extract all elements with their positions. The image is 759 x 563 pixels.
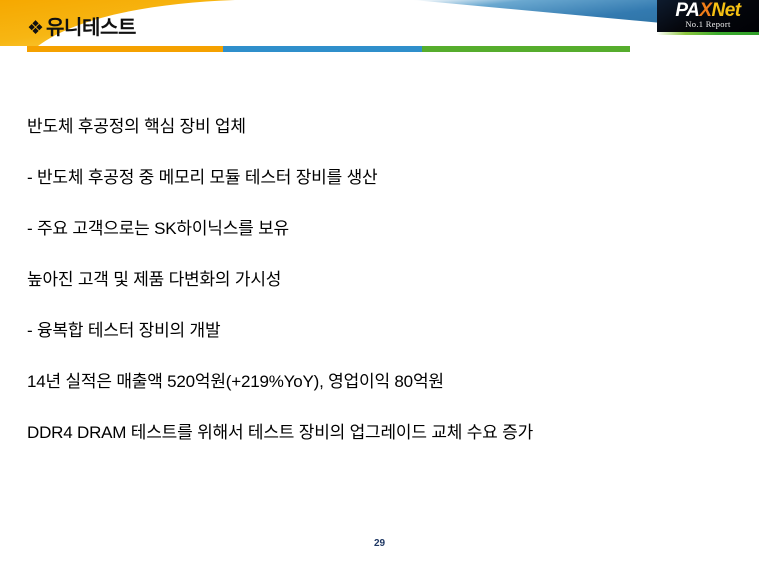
rule-segment-blue [223,46,422,52]
page-number: 29 [0,538,759,550]
body-line: - 반도체 후공정 중 메모리 모듈 테스터 장비를 생산 [27,169,739,191]
body-line: - 주요 고객으로는 SK하이닉스를 보유 [27,220,739,242]
logo-part-x: X [699,0,711,21]
rule-segment-orange [27,46,223,52]
slide-title: ❖ 유니테스트 [27,13,136,43]
slide-body: 반도체 후공정의 핵심 장비 업체 - 반도체 후공정 중 메모리 모듈 테스터… [27,118,739,446]
title-divider-rule [27,46,630,52]
diamond-bullet-icon: ❖ [27,19,44,38]
logo-part-pa: PA [675,0,699,21]
logo-part-net: Net [712,0,741,21]
body-line: 반도체 후공정의 핵심 장비 업체 [27,118,739,140]
presentation-slide: PAXNet No.1 Report ❖ 유니테스트 반도체 후공정의 핵심 장… [0,0,759,563]
body-line: - 융복합 테스터 장비의 개발 [27,322,739,344]
rule-segment-green [422,46,630,52]
page-title: 유니테스트 [46,18,136,38]
paxnet-wordmark: PAXNet [657,1,759,21]
body-line: 14년 실적은 매출액 520억원(+219%YoY), 영업이익 80억원 [27,373,739,395]
body-line: 높아진 고객 및 제품 다변화의 가시성 [27,271,739,293]
logo-underline [657,32,759,35]
paxnet-logo: PAXNet No.1 Report [657,0,759,32]
body-line: DDR4 DRAM 테스트를 위해서 테스트 장비의 업그레이드 교체 수요 증… [27,424,739,446]
logo-tagline: No.1 Report [657,19,759,29]
